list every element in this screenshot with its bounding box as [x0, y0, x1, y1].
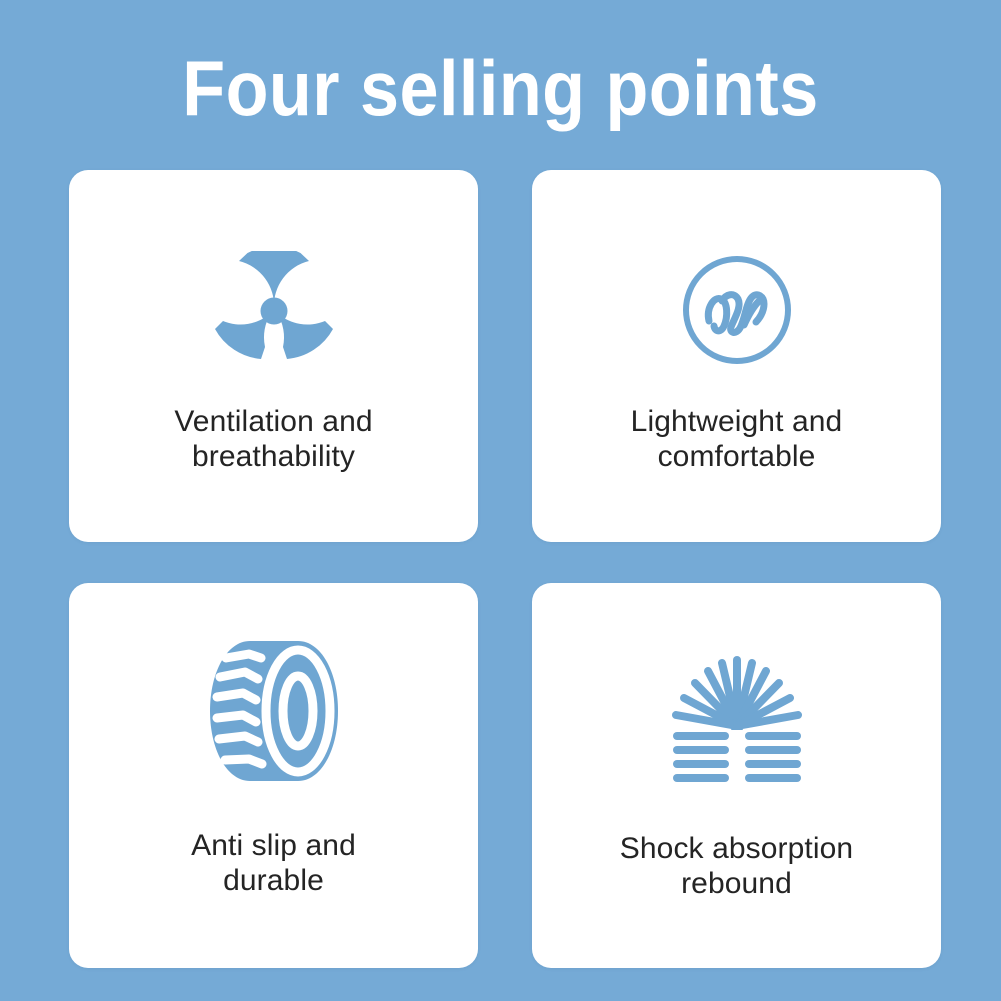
page-title: Four selling points [50, 44, 951, 132]
selling-points-poster: Four selling points Ventilation an [0, 0, 1001, 1001]
feature-card-label: Shock absorption rebound [602, 831, 871, 901]
feature-card-lightweight[interactable]: Lightweight and comfortable [532, 170, 941, 542]
shock-absorption-rays-icon [532, 653, 941, 793]
feature-card-shock-absorption[interactable]: Shock absorption rebound [532, 583, 941, 968]
ventilation-trefoil-icon [69, 250, 478, 370]
feature-card-grid: Ventilation and breathability Light [69, 170, 941, 968]
feature-card-anti-slip[interactable]: Anti slip and durable [69, 583, 478, 968]
feature-card-ventilation[interactable]: Ventilation and breathability [69, 170, 478, 542]
anti-slip-tire-icon [69, 636, 478, 786]
feature-card-label: Ventilation and breathability [156, 404, 390, 474]
feature-card-label: Anti slip and durable [173, 828, 374, 898]
lightweight-feather-circle-icon [532, 248, 941, 372]
feature-card-label: Lightweight and comfortable [613, 404, 861, 474]
